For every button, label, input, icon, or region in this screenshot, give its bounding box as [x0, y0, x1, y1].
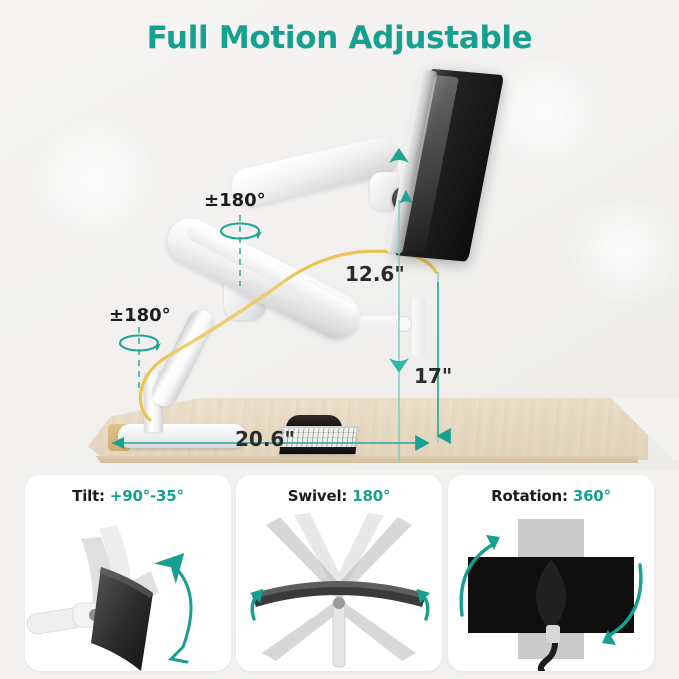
card-tilt-label: Tilt: — [72, 487, 105, 505]
infographic-root: Full Motion Adjustable — [0, 0, 679, 679]
tilt-arm — [26, 603, 103, 635]
measurement-overlay — [0, 0, 679, 470]
curved-double-arrow-icon — [171, 565, 191, 662]
monitor-rotation-illustration — [448, 507, 654, 671]
card-rotation-value: 360° — [573, 487, 611, 505]
monitor-swivel-illustration — [236, 507, 442, 671]
card-tilt-value: +90°-35° — [110, 487, 184, 505]
feature-cards: Tilt: +90°-35° — [0, 472, 679, 679]
hero-scene: Full Motion Adjustable — [0, 0, 679, 470]
rotation-label-lower: ±180° — [109, 305, 171, 326]
card-rotation[interactable]: Rotation: 360° — [448, 475, 654, 671]
monitor-tilt-illustration — [25, 507, 231, 671]
card-swivel-label: Swivel: — [288, 487, 348, 505]
rotation-ellipse-icon — [120, 336, 161, 352]
rotation-ellipse-icon — [221, 224, 262, 240]
dimension-label-max-height: 17" — [414, 364, 452, 388]
card-swivel-heading: Swivel: 180° — [236, 487, 442, 505]
dimension-label-horizontal-reach: 20.6" — [235, 427, 295, 451]
rotation-label-upper: ±180° — [204, 190, 266, 211]
card-swivel[interactable]: Swivel: 180° — [236, 475, 442, 671]
card-swivel-value: 180° — [352, 487, 390, 505]
dimension-label-vertical-travel: 12.6" — [345, 262, 405, 286]
card-rotation-heading: Rotation: 360° — [448, 487, 654, 505]
card-rotation-label: Rotation: — [491, 487, 568, 505]
card-tilt-heading: Tilt: +90°-35° — [25, 487, 231, 505]
card-tilt[interactable]: Tilt: +90°-35° — [25, 475, 231, 671]
